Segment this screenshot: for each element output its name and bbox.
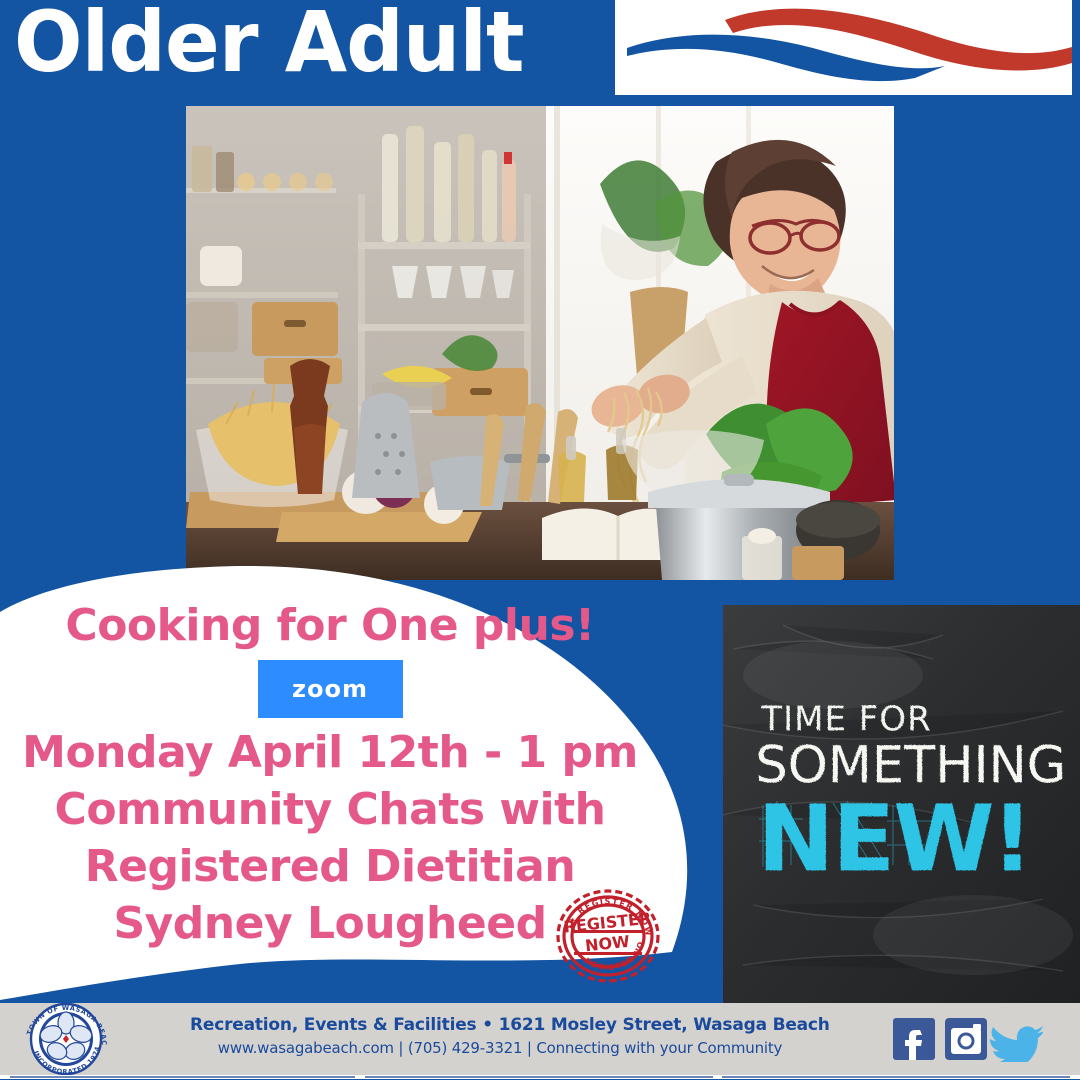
header-banner: Older Adult (0, 0, 1080, 97)
event-datetime: Monday April 12th - 1 pm (0, 724, 660, 781)
twitter-icon (986, 1026, 1043, 1062)
poster-canvas: Older Adult (0, 0, 1080, 1080)
footer-divider (0, 1075, 1080, 1079)
wave-logo (615, 0, 1072, 95)
chalk-line-3: NEW (757, 785, 992, 892)
town-crest-logo: TOWN OF WASAGA BEACH INCORPORATED 1974 (18, 1001, 114, 1077)
footer-website-phone[interactable]: www.wasagabeach.com | (705) 429-3321 | C… (190, 1037, 810, 1059)
header-right-edge (1072, 0, 1080, 97)
event-series: Community Chats with (0, 781, 660, 838)
footer-divider-segment (10, 1076, 355, 1078)
register-now-stamp[interactable]: ★ REGISTER NOW ★ ★ REGISTER NOW ★ REGIST… (548, 886, 668, 986)
facebook-icon (893, 1018, 935, 1060)
chalk-line-4: ! (991, 785, 1033, 892)
footer-contact-block: Recreation, Events & Facilities • 1621 M… (190, 1014, 810, 1059)
stamp-line-2: NOW (584, 932, 631, 956)
zoom-logo: zoom (258, 660, 403, 718)
chalk-line-1: TIME FOR (760, 699, 931, 739)
footer-address: Recreation, Events & Facilities • 1621 M… (190, 1014, 810, 1037)
page-title: Older Adult (14, 0, 524, 91)
chalkboard-image: TIME FOR SOMETHING NEW ! (723, 605, 1080, 1003)
zoom-logo-label: zoom (292, 675, 368, 703)
social-icons[interactable] (893, 1016, 1043, 1062)
footer-bar: TOWN OF WASAGA BEACH INCORPORATED 1974 R… (0, 1003, 1080, 1075)
event-title: Cooking for One plus! (0, 600, 660, 652)
instagram-icon (945, 1018, 987, 1060)
footer-divider-segment (722, 1076, 1070, 1078)
footer-divider-segment (365, 1076, 713, 1078)
cooking-photo (186, 106, 894, 580)
